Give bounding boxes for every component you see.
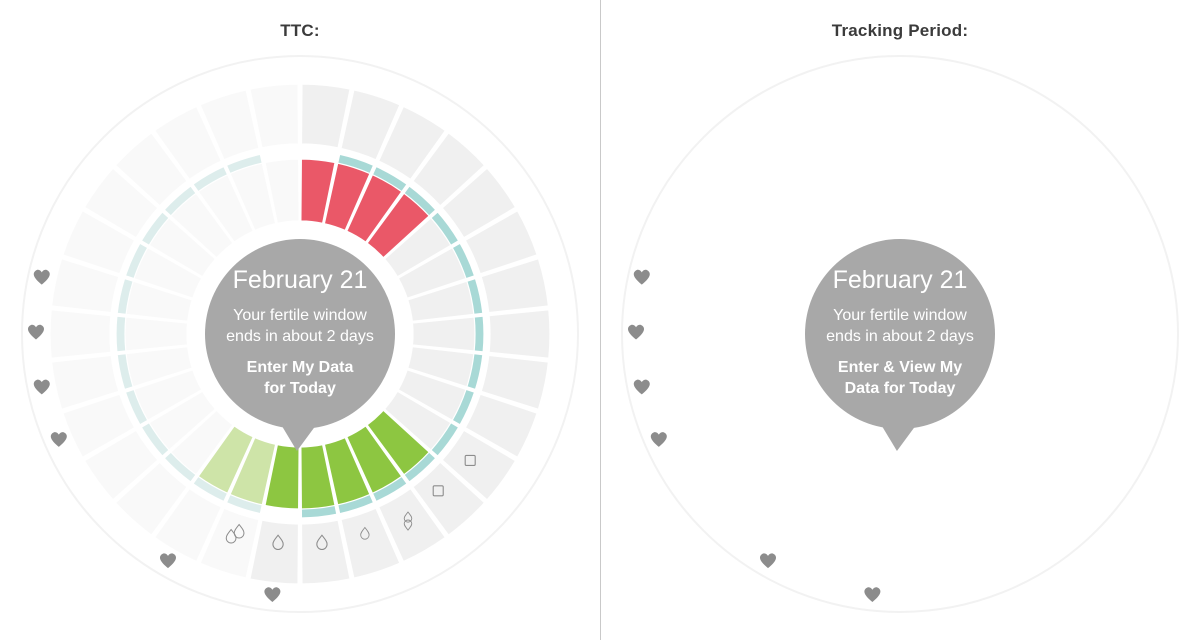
day-segment[interactable] [50, 310, 111, 358]
panel-divider [600, 0, 601, 640]
hub-date: February 21 [233, 266, 368, 294]
heart-icon[interactable] [634, 270, 650, 285]
heart-icon[interactable] [628, 325, 644, 340]
day-segment[interactable] [489, 310, 550, 358]
hub-cta-line-1[interactable]: Enter & View My [838, 359, 962, 376]
hub-pointer [882, 426, 915, 451]
panel-ttc: TTC: February 21Your fertile windowends … [0, 0, 600, 640]
heart-icon[interactable] [264, 587, 280, 602]
heart-icon[interactable] [28, 325, 44, 340]
hub-date: February 21 [833, 266, 968, 294]
heart-icon[interactable] [160, 553, 176, 568]
hub-status-line-2: ends in about 2 days [226, 328, 374, 345]
hub-status-line-1: Your fertile window [833, 307, 967, 324]
heart-icon[interactable] [634, 380, 650, 395]
hub-status-line-2: ends in about 2 days [826, 328, 974, 345]
hub-cta-line-1[interactable]: Enter My Data [247, 359, 354, 376]
heart-icon[interactable] [864, 587, 880, 602]
heart-icon[interactable] [34, 270, 50, 285]
hub-status-line-1: Your fertile window [233, 307, 367, 324]
heart-icon[interactable] [34, 380, 50, 395]
cycle-wheel-svg-tracking-period[interactable]: February 21Your fertile windowends in ab… [600, 0, 1200, 640]
hub-bubble[interactable]: February 21Your fertile windowends in ab… [205, 239, 395, 451]
cycle-wheel-ttc[interactable]: February 21Your fertile windowends in ab… [0, 0, 600, 640]
hub-cta-line-2[interactable]: for Today [264, 380, 336, 397]
day-segment[interactable] [412, 317, 475, 351]
panel-tracking-period: Tracking Period: February 21Your fertile… [600, 0, 1200, 640]
day-segment[interactable] [125, 317, 188, 351]
hub-cta-line-2[interactable]: Data for Today [845, 380, 956, 397]
heart-icon[interactable] [651, 432, 667, 447]
comparison-stage: TTC: February 21Your fertile windowends … [0, 0, 1200, 640]
cycle-wheel-tracking-period[interactable]: February 21Your fertile windowends in ab… [600, 0, 1200, 640]
cycle-wheel-svg-ttc[interactable]: February 21Your fertile windowends in ab… [0, 0, 600, 640]
heart-icon[interactable] [51, 432, 67, 447]
heart-icon[interactable] [760, 553, 776, 568]
hub-bubble[interactable]: February 21Your fertile windowends in ab… [805, 239, 995, 451]
